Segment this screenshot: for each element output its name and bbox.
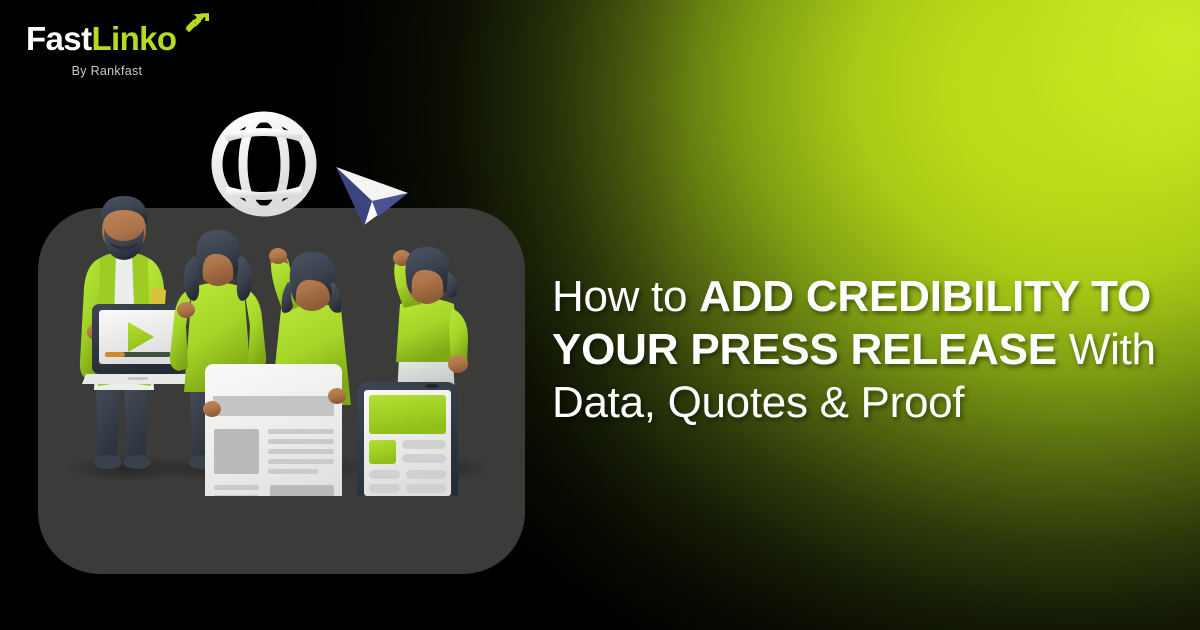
logo-text-fast: Fast	[26, 20, 91, 57]
logo-text-linko: Linko	[91, 20, 176, 57]
logo-tagline: By Rankfast	[26, 64, 216, 78]
brand-logo[interactable]: FastLinko By Rankfast	[26, 22, 216, 78]
page-title: How to ADD CREDIBILITY TO YOUR PRESS REL…	[552, 270, 1177, 429]
illustration-artwork	[0, 96, 560, 496]
tablet-icon	[357, 382, 458, 496]
press-release-banner: FastLinko By Rankfast	[0, 0, 1200, 630]
globe-icon	[217, 117, 311, 211]
newspaper-icon	[203, 364, 346, 496]
logo-wordmark: FastLinko	[26, 22, 216, 55]
paper-plane-icon	[336, 167, 408, 227]
hero-illustration	[0, 96, 560, 496]
arrow-up-right-icon	[182, 11, 212, 41]
headline-segment-0: How to	[552, 272, 699, 321]
